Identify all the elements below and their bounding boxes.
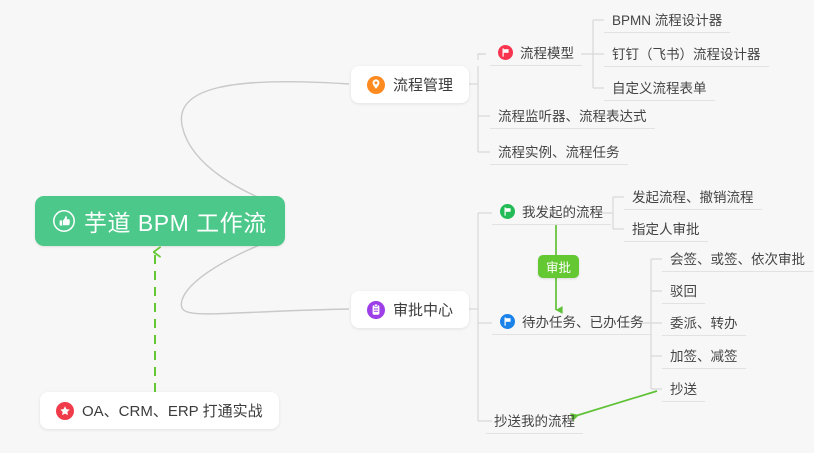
flag-circle-red-icon [498, 45, 513, 60]
node-label-start-cancel-process: 发起流程、撤销流程 [632, 186, 754, 206]
mindmap-canvas: 芋道 BPM 工作流 流程管理 流程模型 BPMN 流程设计器 钉钉（飞书）流程… [0, 0, 814, 453]
node-label-process-listener-expression: 流程监听器、流程表达式 [498, 105, 647, 125]
node-reject[interactable]: 驳回 [662, 280, 705, 304]
link-root-to-process-management [181, 82, 349, 206]
root-label: 芋道 BPM 工作流 [84, 204, 267, 238]
node-dingtalk-feishu-designer[interactable]: 钉钉（飞书）流程设计器 [604, 43, 769, 67]
star-circle-red-icon [56, 402, 74, 420]
link-root-to-approval-center [181, 237, 349, 314]
node-label-process-model: 流程模型 [520, 42, 574, 62]
node-label-my-started-process: 我发起的流程 [522, 201, 603, 221]
node-custom-process-form[interactable]: 自定义流程表单 [604, 77, 715, 101]
node-carbon-copy[interactable]: 抄送 [662, 378, 705, 402]
node-bpmn-designer[interactable]: BPMN 流程设计器 [604, 9, 730, 33]
node-label-dingtalk-feishu-designer: 钉钉（飞书）流程设计器 [612, 43, 761, 63]
node-my-started-process[interactable]: 我发起的流程 [492, 201, 611, 225]
root-node[interactable]: 芋道 BPM 工作流 [35, 196, 285, 246]
flag-circle-blue-icon [500, 314, 515, 329]
node-label-process-instance-task: 流程实例、流程任务 [498, 141, 620, 161]
node-todo-done-task[interactable]: 待办任务、已办任务 [492, 311, 652, 335]
node-cc-to-me-process[interactable]: 抄送我的流程 [486, 410, 583, 434]
node-label-custom-process-form: 自定义流程表单 [612, 77, 707, 97]
node-process-instance-task[interactable]: 流程实例、流程任务 [490, 141, 628, 165]
node-label-bpmn-designer: BPMN 流程设计器 [612, 9, 722, 29]
branch-label-process-management: 流程管理 [393, 74, 453, 95]
node-countersign-orsign-sequential[interactable]: 会签、或签、依次审批 [662, 248, 813, 272]
flag-circle-green-icon [500, 204, 515, 219]
floating-node-oa-crm-erp[interactable]: OA、CRM、ERP 打通实战 [40, 392, 279, 429]
node-label-todo-done-task: 待办任务、已办任务 [522, 311, 644, 331]
node-label-assignee-approval: 指定人审批 [632, 218, 700, 238]
node-label-add-remove-sign: 加签、减签 [670, 345, 738, 365]
node-start-cancel-process[interactable]: 发起流程、撤销流程 [624, 186, 762, 210]
location-pin-icon [367, 76, 385, 94]
arrow-cc-to-cc-my-process [572, 391, 657, 417]
node-delegate-transfer[interactable]: 委派、转办 [662, 312, 746, 336]
branch-label-approval-center: 审批中心 [393, 299, 453, 320]
node-process-model[interactable]: 流程模型 [490, 42, 582, 66]
node-add-remove-sign[interactable]: 加签、减签 [662, 345, 746, 369]
node-label-reject: 驳回 [670, 280, 697, 300]
node-assignee-approval[interactable]: 指定人审批 [624, 218, 708, 242]
node-label-carbon-copy: 抄送 [670, 378, 697, 398]
thumbs-up-icon [53, 210, 75, 232]
node-label-cc-to-me-process: 抄送我的流程 [494, 410, 575, 430]
approval-badge[interactable]: 审批 [538, 255, 579, 278]
node-label-delegate-transfer: 委派、转办 [670, 312, 738, 332]
node-label-countersign-orsign-sequential: 会签、或签、依次审批 [670, 248, 805, 268]
node-process-listener-expression[interactable]: 流程监听器、流程表达式 [490, 105, 655, 129]
approval-badge-label: 审批 [546, 257, 571, 276]
branch-node-process-management[interactable]: 流程管理 [351, 66, 469, 103]
branch-node-approval-center[interactable]: 审批中心 [351, 291, 469, 328]
clipboard-circle-purple-icon [367, 301, 385, 319]
floating-node-label-oa-crm-erp: OA、CRM、ERP 打通实战 [82, 400, 263, 421]
